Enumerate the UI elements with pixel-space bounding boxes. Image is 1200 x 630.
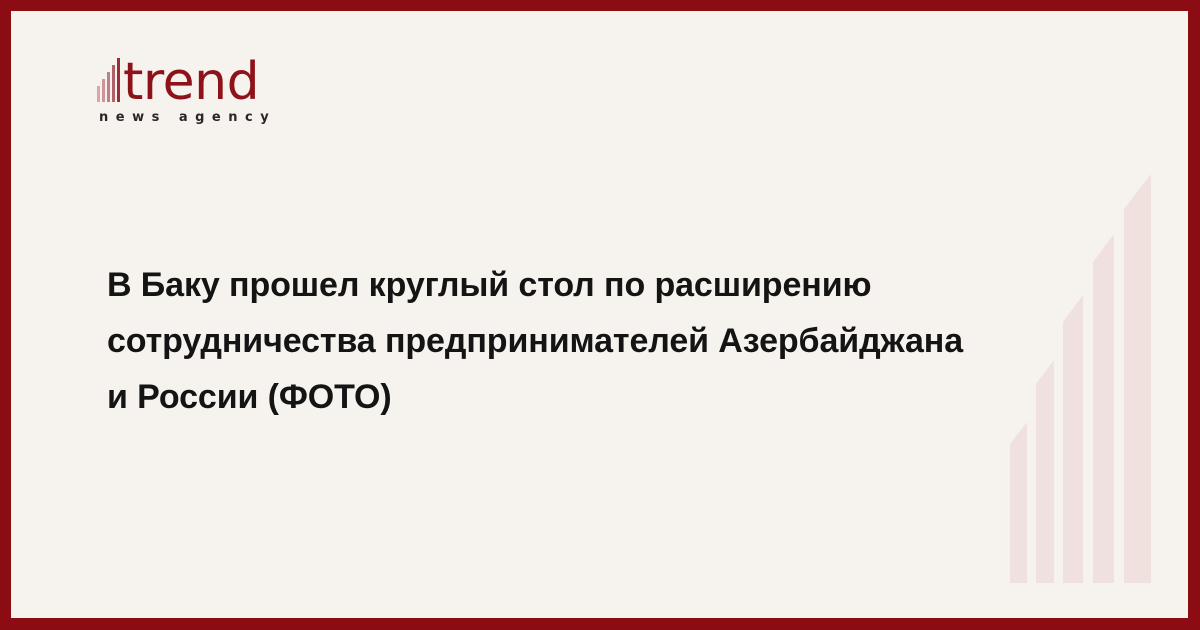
- ascending-bars-icon: [97, 58, 122, 104]
- logo-tagline: news agency: [99, 110, 397, 125]
- headline-line-2: сотрудничества предпринимателей Азербайд…: [107, 313, 1107, 369]
- logo-wordmark-row: trend: [97, 48, 397, 104]
- logo-wordmark: trend: [123, 56, 259, 108]
- card-canvas: trend news agency В Баку прошел круглый …: [11, 11, 1188, 618]
- headline-line-1: В Баку прошел круглый стол по расширению: [107, 257, 1107, 313]
- news-card: trend news agency В Баку прошел круглый …: [0, 0, 1200, 630]
- watermark-bar-1: [1010, 423, 1027, 583]
- trend-logo[interactable]: trend news agency: [97, 48, 397, 125]
- headline-line-3: и России (ФОТО): [107, 369, 1107, 425]
- page-title: В Баку прошел круглый стол по расширению…: [107, 257, 1107, 425]
- watermark-bar-5: [1124, 175, 1151, 583]
